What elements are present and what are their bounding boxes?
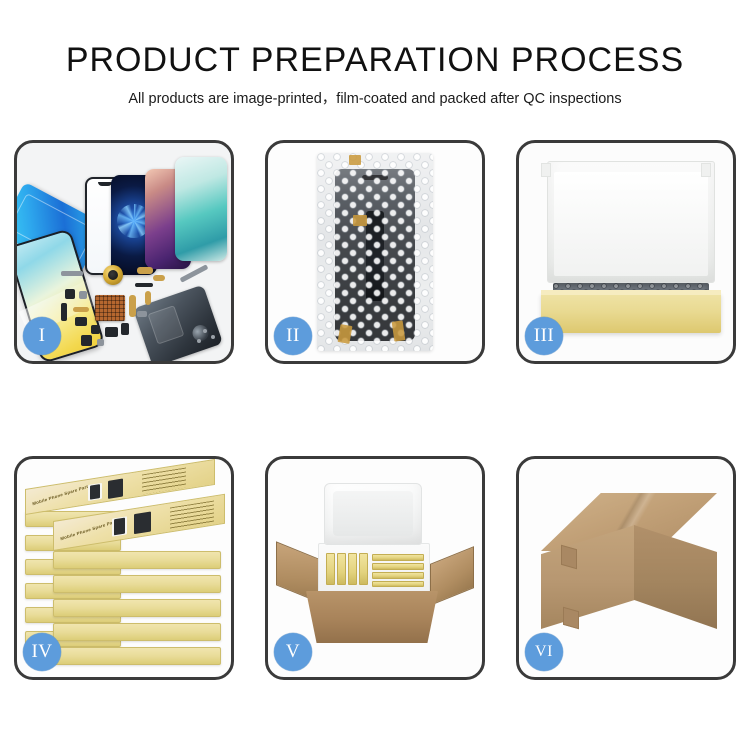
spare-part-box (53, 647, 221, 665)
spare-part-box (53, 551, 221, 569)
tape-strip (353, 215, 367, 226)
box-label-image (90, 484, 100, 500)
spare-part (137, 311, 147, 317)
kraft-box-base (541, 293, 721, 333)
spare-part (137, 267, 153, 274)
process-step-panel-3: III (516, 140, 736, 364)
spare-part (129, 295, 136, 317)
bubble-wrap-texture (317, 153, 433, 351)
carton-tape-patch (563, 607, 579, 630)
step-badge-2: II (274, 317, 312, 355)
speaker-coil-part (103, 265, 123, 285)
boxed-part (372, 572, 424, 579)
process-step-panel-5: V (265, 456, 485, 680)
carton-right-face (634, 525, 717, 629)
spare-part-box (53, 575, 221, 593)
spare-part (91, 325, 100, 334)
step-badge-5: V (274, 633, 312, 671)
box-label-text: Mobile Phone Spare Parts (60, 518, 119, 541)
carton-tape-patch (561, 545, 577, 570)
spare-part-box (53, 599, 221, 617)
spare-part (75, 317, 87, 326)
step-badge-4: IV (23, 633, 61, 671)
bottom-margin (0, 726, 750, 750)
spare-part (145, 291, 151, 305)
spare-part (61, 303, 67, 321)
process-step-panel-1: I (14, 140, 234, 364)
process-step-panel-6: VI (516, 456, 736, 680)
box-label-image (134, 511, 151, 534)
process-step-panel-4: Mobile Phone Spare Parts Mobile Phone Sp… (14, 456, 234, 680)
box-label-spec-lines (142, 468, 186, 495)
screw-part (197, 339, 201, 343)
process-step-grid: I II (14, 140, 736, 685)
spare-part (105, 327, 118, 337)
bubble-wrap-bag (317, 153, 433, 351)
foam-tab-left (541, 163, 551, 177)
spare-part-box (53, 623, 221, 641)
carton-body (306, 591, 438, 643)
boxed-part (359, 553, 368, 585)
process-step-panel-2: II (265, 140, 485, 364)
logic-board-chip (95, 295, 125, 321)
boxed-part (372, 563, 424, 570)
step-badge-3: III (525, 317, 563, 355)
boxed-part (372, 581, 424, 587)
styrofoam-cooler-lid (324, 483, 422, 545)
page-subtitle: All products are image-printed，film-coat… (0, 89, 750, 109)
boxed-part (326, 553, 335, 585)
spare-part (135, 283, 153, 287)
screw-part (203, 329, 207, 333)
page-header: PRODUCT PREPARATION PROCESS All products… (0, 38, 750, 109)
box-label-image (114, 518, 125, 536)
tape-strip (349, 155, 361, 165)
spare-part (73, 307, 89, 312)
spare-part (97, 339, 104, 346)
step-badge-1: I (23, 317, 61, 355)
spare-part (121, 323, 129, 335)
foam-tab-right (701, 163, 711, 177)
screw-part (211, 335, 215, 339)
spare-part (79, 291, 87, 299)
boxed-part (372, 554, 424, 561)
spare-part (81, 335, 92, 346)
spare-part (153, 275, 165, 281)
foam-lid (547, 161, 715, 283)
spare-part (61, 271, 83, 276)
product-preparation-process-page: PRODUCT PREPARATION PROCESS All products… (0, 0, 750, 750)
box-label-image (108, 478, 123, 498)
box-label-spec-lines (170, 501, 214, 530)
boxed-part (337, 553, 346, 585)
boxed-parts-group (326, 553, 424, 587)
boxed-part (348, 553, 357, 585)
page-title: PRODUCT PREPARATION PROCESS (0, 38, 750, 82)
step-badge-6: VI (525, 633, 563, 671)
box-label-text: Mobile Phone Spare Parts (32, 483, 91, 506)
spare-part (65, 289, 75, 299)
phone-screen-teal (175, 157, 227, 261)
